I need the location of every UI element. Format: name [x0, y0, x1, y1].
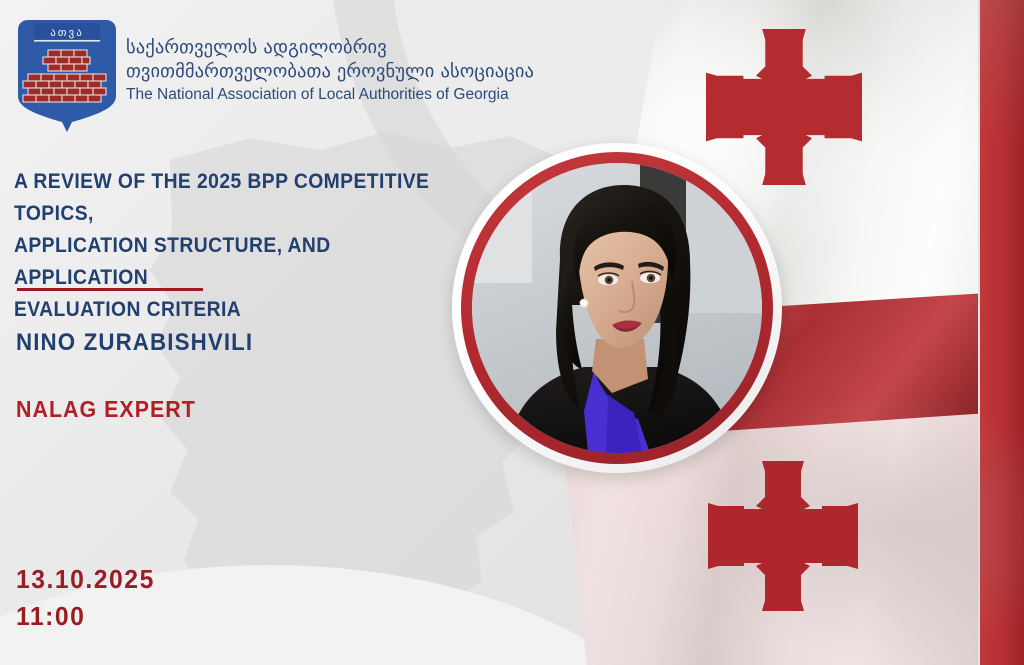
org-name-ka-line2: თვითმმართველობათა ეროვნული ასოციაცია: [126, 60, 556, 84]
bolnisi-cross-icon-upper: [706, 28, 862, 186]
event-announcement-banner: ათვა: [0, 0, 1024, 665]
event-datetime: 13.10.2025 11:00: [16, 561, 155, 635]
event-title-line-1: A REVIEW OF THE 2025 BPP COMPETITIVE TOP…: [14, 166, 465, 230]
title-divider-rule: [17, 288, 203, 291]
event-date: 13.10.2025: [16, 561, 155, 598]
speaker-role: NALAG EXPERT: [16, 396, 196, 423]
event-title-line-2: APPLICATION STRUCTURE, AND APPLICATION: [14, 230, 465, 294]
event-title-line-3: EVALUATION CRITERIA: [14, 294, 465, 326]
organization-name-block: საქართველოს ადგილობრივ თვითმმართველობათა…: [126, 36, 556, 105]
org-name-ka-line1: საქართველოს ადგილობრივ: [126, 36, 556, 60]
speaker-portrait-photo: Portrait of Nino Zurabishvili: [472, 163, 762, 453]
event-title: A REVIEW OF THE 2025 BPP COMPETITIVE TOP…: [14, 166, 465, 326]
event-time: 11:00: [16, 598, 155, 635]
speaker-portrait-frame: Portrait of Nino Zurabishvili: [452, 143, 782, 473]
svg-text:ათვა: ათვა: [50, 26, 84, 39]
portrait-red-ring: Portrait of Nino Zurabishvili: [461, 152, 773, 464]
speaker-name: NINO ZURABISHVILI: [16, 329, 253, 357]
bolnisi-cross-icon-lower: [708, 460, 858, 612]
nalag-shield-logo: ათვა: [12, 14, 122, 136]
org-name-en: The National Association of Local Author…: [126, 85, 556, 105]
